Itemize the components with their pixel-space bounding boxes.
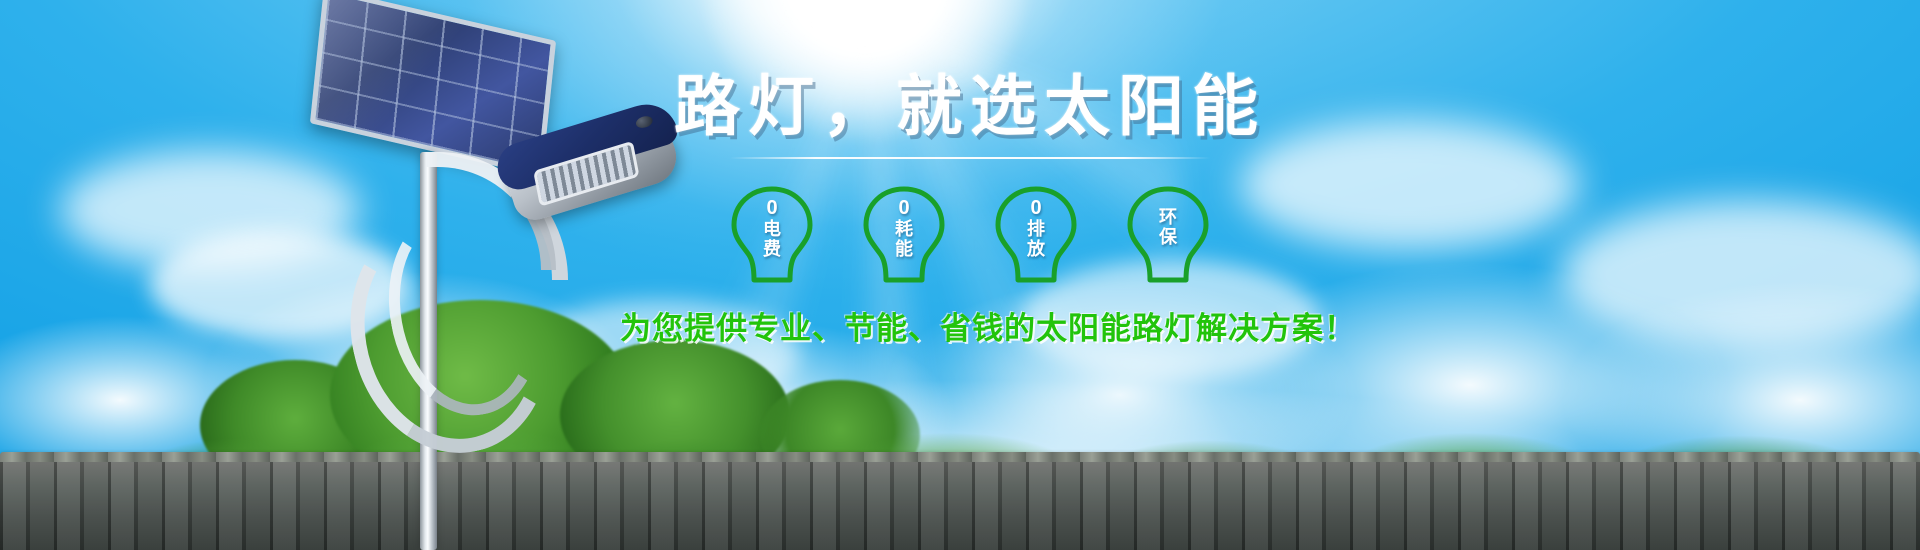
feature-word-line2: 能 bbox=[857, 239, 951, 259]
feature-bulb-item: 0 电 费 bbox=[725, 185, 819, 289]
headline-divider bbox=[730, 157, 1210, 159]
feature-word-line2: 费 bbox=[725, 239, 819, 259]
feature-word-line1: 耗 bbox=[857, 219, 951, 239]
feature-zero-value: 0 bbox=[989, 197, 1083, 219]
feature-bulb-text: 0 电 费 bbox=[725, 197, 819, 259]
solar-streetlight-hero-banner: 路灯，就选太阳能 0 电 费 0 耗 能 bbox=[0, 0, 1920, 550]
banner-copy: 路灯，就选太阳能 0 电 费 0 耗 能 bbox=[620, 72, 1320, 348]
feature-bulb-text: 环 保 bbox=[1121, 207, 1215, 247]
feature-bulb-text: 0 排 放 bbox=[989, 197, 1083, 259]
feature-bulb-item: 环 保 bbox=[1121, 185, 1215, 289]
feature-zero-value: 0 bbox=[725, 197, 819, 219]
brick-wall bbox=[0, 462, 1920, 550]
feature-word-line1: 电 bbox=[725, 219, 819, 239]
banner-tagline: 为您提供专业、节能、省钱的太阳能路灯解决方案！ bbox=[620, 303, 1320, 348]
feature-bulb-item: 0 排 放 bbox=[989, 185, 1083, 289]
banner-headline: 路灯，就选太阳能 bbox=[620, 72, 1320, 141]
feature-bulb-list: 0 电 费 0 耗 能 0 bbox=[620, 185, 1320, 289]
feature-bulb-item: 0 耗 能 bbox=[857, 185, 951, 289]
feature-bulb-text: 0 耗 能 bbox=[857, 197, 951, 259]
feature-word-line1: 环 bbox=[1121, 207, 1215, 227]
feature-word-line2: 保 bbox=[1121, 227, 1215, 247]
feature-word-line1: 排 bbox=[989, 219, 1083, 239]
feature-word-line2: 放 bbox=[989, 239, 1083, 259]
feature-zero-value: 0 bbox=[857, 197, 951, 219]
